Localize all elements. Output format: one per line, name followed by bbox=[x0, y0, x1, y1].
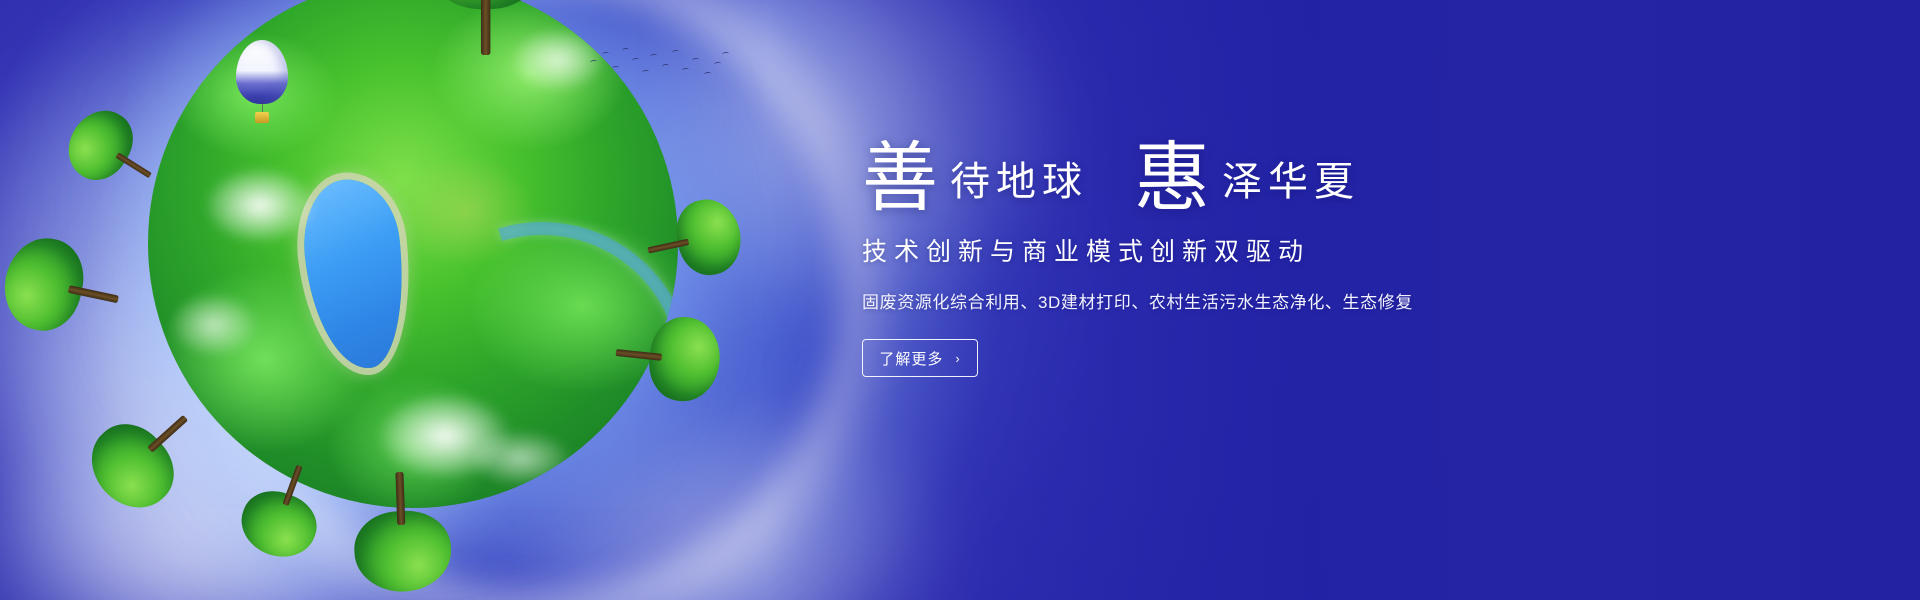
headline-char-primary: 善 bbox=[862, 142, 938, 214]
cloud-icon bbox=[455, 423, 585, 493]
learn-more-label: 了解更多 bbox=[879, 348, 943, 369]
cloud-icon bbox=[159, 285, 269, 365]
cloud-icon bbox=[190, 158, 330, 253]
page-subtitle: 技术创新与商业模式创新双驱动 bbox=[862, 232, 1482, 268]
headline-chars-secondary: 泽华夏 bbox=[1222, 162, 1360, 202]
hero-banner: 善 待地球 惠 泽华夏 技术创新与商业模式创新双驱动 固废资源化综合利用、3D建… bbox=[0, 0, 1920, 600]
hot-air-balloon-icon bbox=[236, 40, 288, 126]
hero-copy-block: 善 待地球 惠 泽华夏 技术创新与商业模式创新双驱动 固废资源化综合利用、3D建… bbox=[862, 118, 1482, 377]
bird-flock-icon bbox=[588, 46, 728, 90]
headline-chars-secondary: 待地球 bbox=[950, 162, 1088, 202]
tree-icon bbox=[411, 0, 560, 55]
headline-phrase-2: 惠 泽华夏 bbox=[1134, 138, 1360, 210]
page-description: 固废资源化综合利用、3D建材打印、农村生活污水生态净化、生态修复 bbox=[862, 288, 1482, 313]
page-title: 善 待地球 惠 泽华夏 bbox=[862, 118, 1482, 210]
headline-phrase-1: 善 待地球 bbox=[862, 138, 1088, 210]
learn-more-button[interactable]: 了解更多 › bbox=[862, 339, 978, 377]
chevron-right-icon: › bbox=[955, 351, 960, 366]
headline-char-primary: 惠 bbox=[1134, 142, 1210, 214]
